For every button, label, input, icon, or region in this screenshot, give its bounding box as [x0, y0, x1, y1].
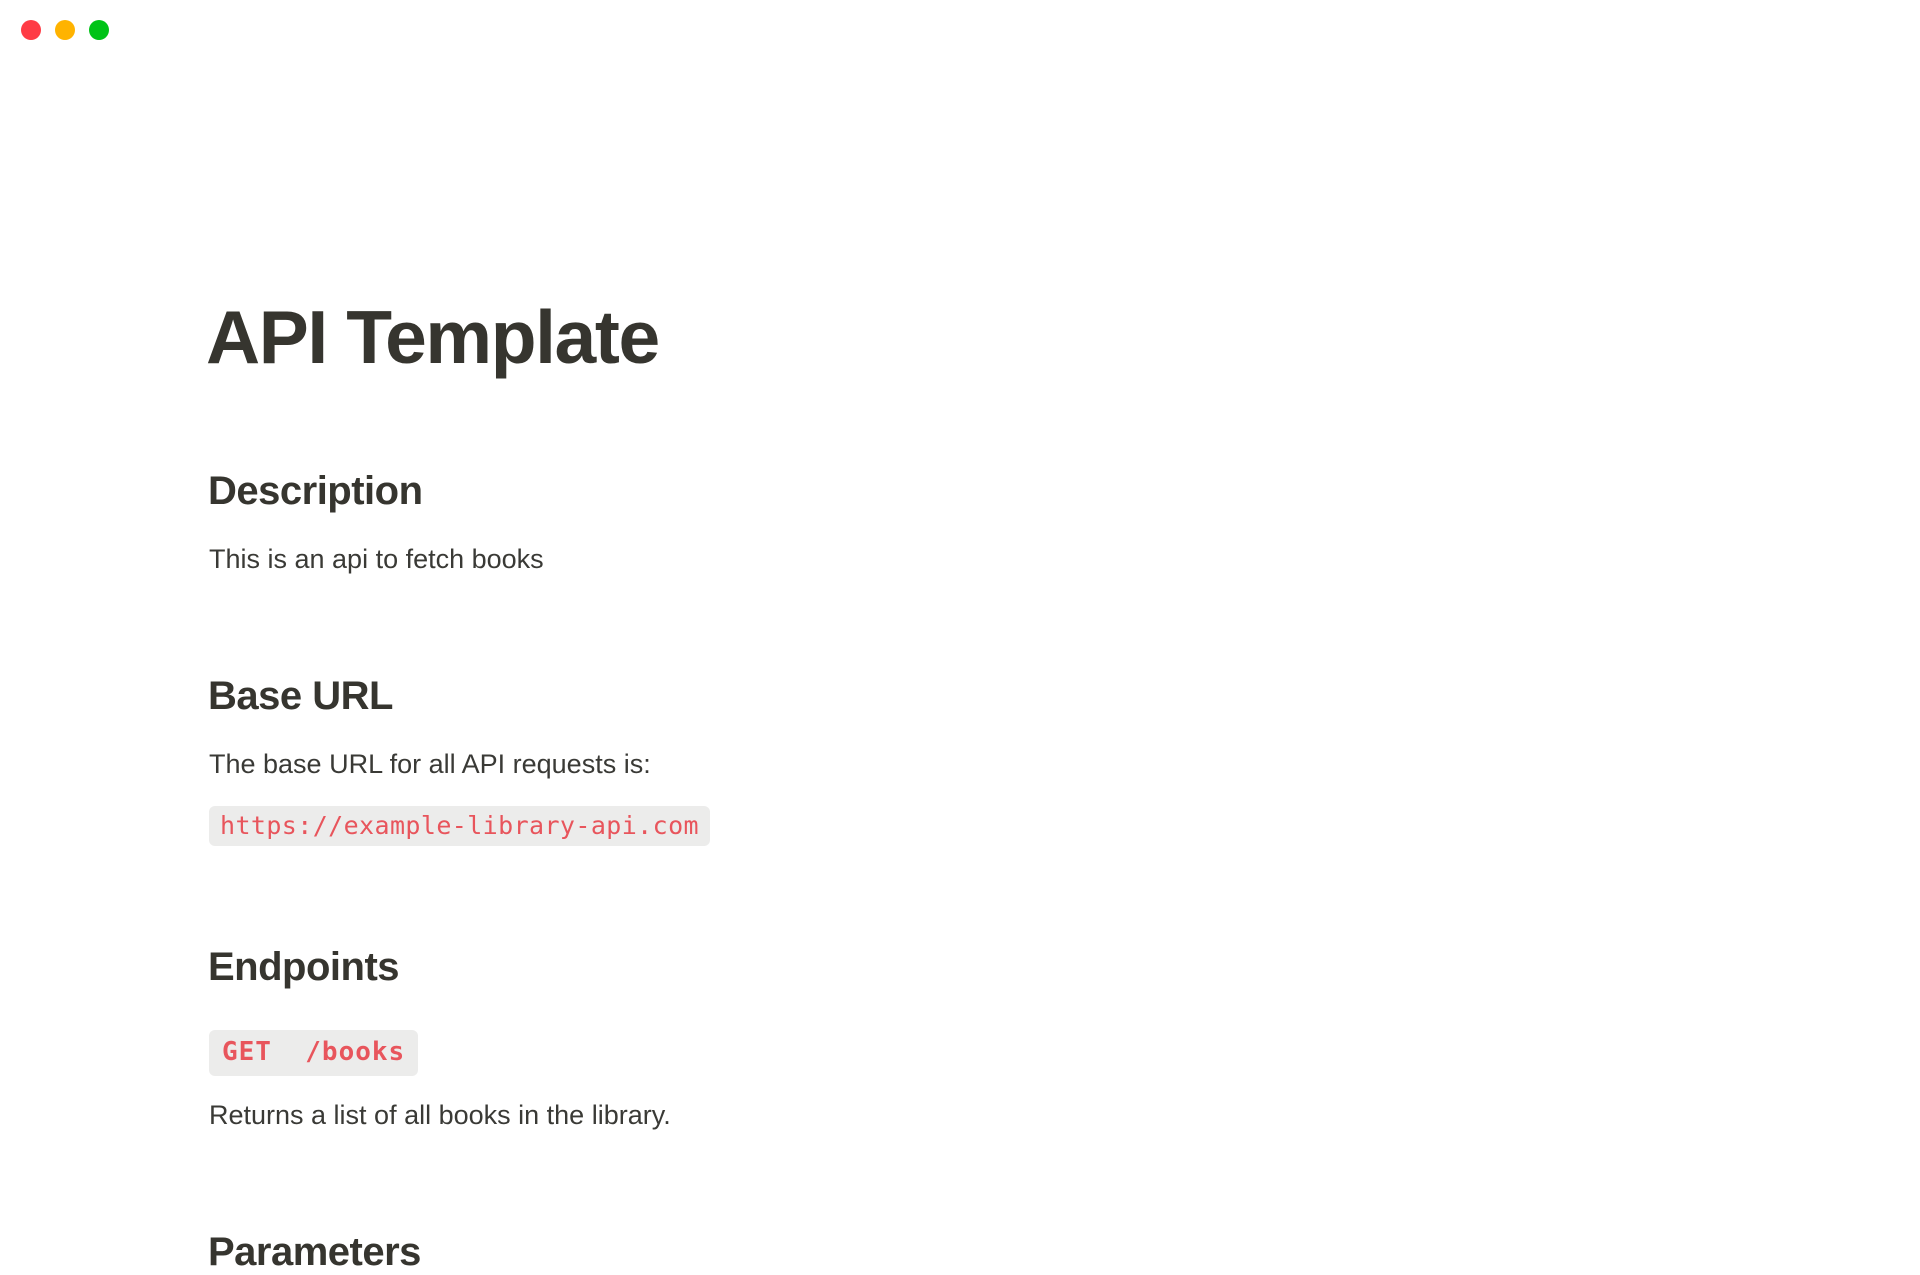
- base-url-paragraph[interactable]: The base URL for all API requests is:: [209, 746, 1609, 782]
- endpoint-method-chip[interactable]: GET /books: [209, 1030, 418, 1076]
- section-heading-endpoints[interactable]: Endpoints: [208, 944, 1609, 990]
- section-base-url: Base URL The base URL for all API reques…: [209, 673, 1609, 846]
- document-canvas: API Template Description This is an api …: [0, 0, 1920, 1200]
- minimize-window-button[interactable]: [55, 20, 75, 40]
- section-heading-parameters[interactable]: Parameters: [208, 1229, 1609, 1275]
- section-heading-description[interactable]: Description: [208, 468, 1609, 514]
- window-controls: [21, 20, 109, 40]
- description-paragraph[interactable]: This is an api to fetch books: [209, 541, 1609, 577]
- endpoint-get-books: GET /books Returns a list of all books i…: [209, 1030, 1609, 1133]
- maximize-window-button[interactable]: [89, 20, 109, 40]
- document-body: API Template Description This is an api …: [209, 0, 1609, 1275]
- section-parameters: Parameters: [209, 1229, 1609, 1275]
- section-endpoints: Endpoints GET /books Returns a list of a…: [209, 944, 1609, 1133]
- section-heading-base-url[interactable]: Base URL: [208, 673, 1609, 719]
- base-url-code-chip[interactable]: https://example-library-api.com: [209, 806, 710, 847]
- close-window-button[interactable]: [21, 20, 41, 40]
- base-url-code-row: https://example-library-api.com: [209, 806, 1609, 847]
- endpoint-description[interactable]: Returns a list of all books in the libra…: [209, 1097, 1609, 1133]
- section-description: Description This is an api to fetch book…: [209, 468, 1609, 577]
- page-title[interactable]: API Template: [206, 300, 1609, 375]
